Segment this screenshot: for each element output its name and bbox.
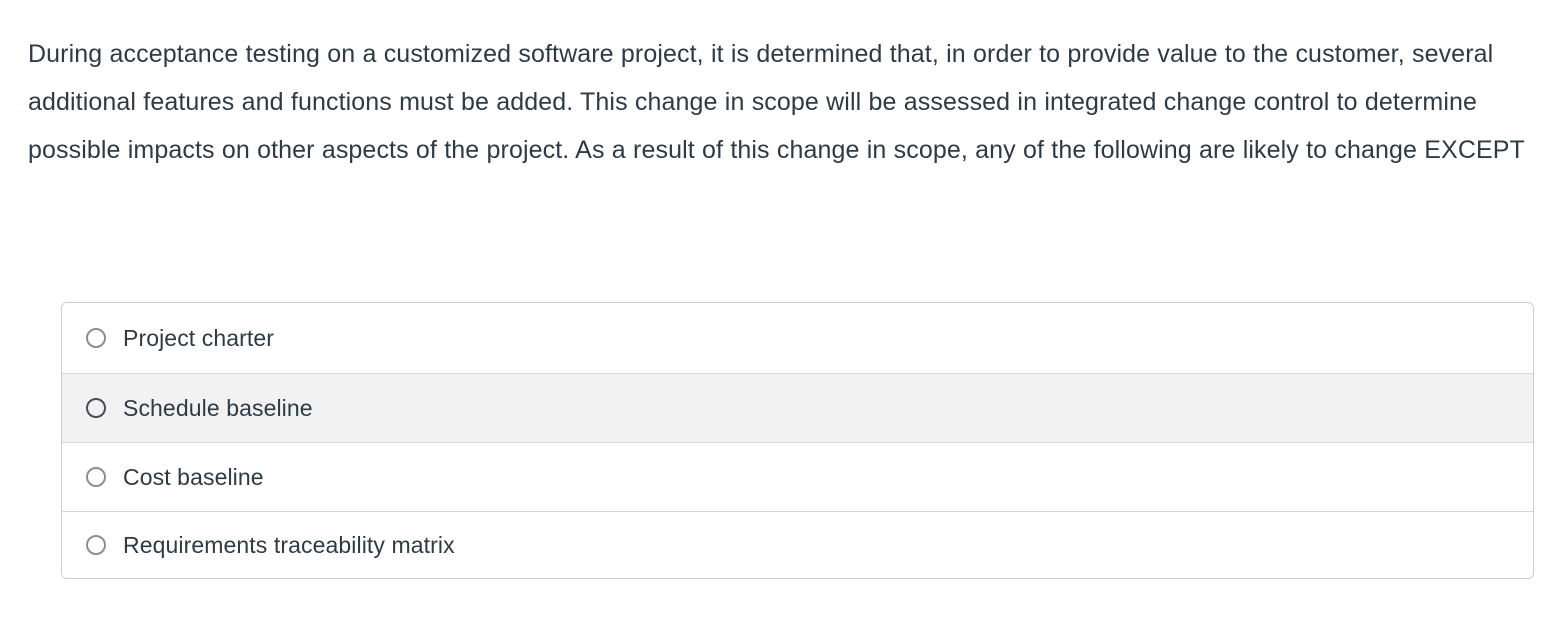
radio-unchecked-icon[interactable] — [86, 535, 106, 555]
answer-options-list: Project charter Schedule baseline Cost b… — [61, 302, 1534, 579]
radio-unchecked-icon[interactable] — [86, 328, 106, 348]
answer-option-label: Project charter — [123, 324, 274, 352]
question-stem-text: During acceptance testing on a customize… — [28, 30, 1528, 174]
answer-option-row[interactable]: Project charter — [62, 303, 1533, 373]
answer-option-row[interactable]: Cost baseline — [62, 442, 1533, 511]
radio-unchecked-icon[interactable] — [86, 398, 106, 418]
answer-option-label: Schedule baseline — [123, 394, 313, 422]
radio-unchecked-icon[interactable] — [86, 467, 106, 487]
quiz-question-screen: During acceptance testing on a customize… — [0, 0, 1562, 642]
answer-option-row[interactable]: Schedule baseline — [62, 373, 1533, 442]
answer-option-label: Cost baseline — [123, 463, 264, 491]
answer-option-label: Requirements traceability matrix — [123, 531, 455, 559]
answer-option-row[interactable]: Requirements traceability matrix — [62, 511, 1533, 578]
